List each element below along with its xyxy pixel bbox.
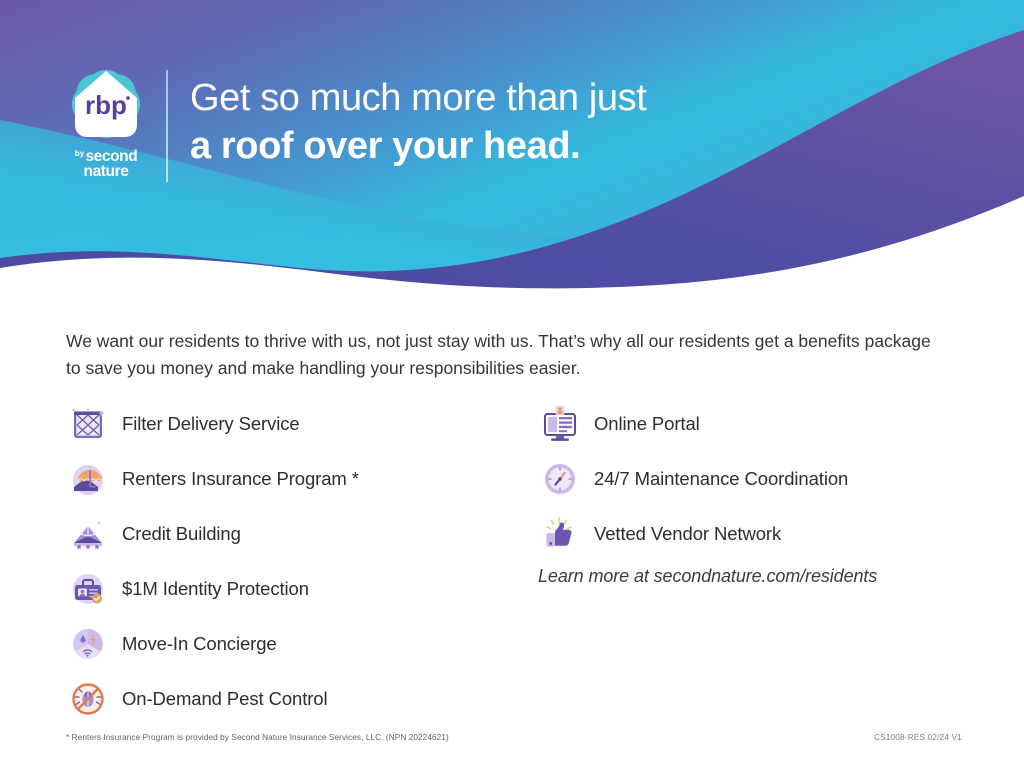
- no-pest-icon: [66, 677, 110, 721]
- id-badge-shield-icon: [66, 567, 110, 611]
- air-filter-icon: [66, 402, 110, 446]
- benefits-column-left: Filter Delivery Service Renters Insuranc…: [66, 396, 516, 726]
- logo-nature-text: nature: [84, 163, 129, 180]
- benefit-label: Vetted Vendor Network: [594, 523, 781, 545]
- benefit-label: $1M Identity Protection: [122, 578, 309, 600]
- hero-headline: Get so much more than just a roof over y…: [190, 75, 980, 171]
- utilities-wifi-icon: [66, 622, 110, 666]
- thumbs-up-icon: [538, 512, 582, 556]
- benefit-item-credit-building: Credit Building: [66, 506, 516, 561]
- benefit-item-online-portal: Online Portal: [538, 396, 968, 451]
- benefit-item-renters-insurance-program: Renters Insurance Program *: [66, 451, 516, 506]
- benefit-label: 24/7 Maintenance Coordination: [594, 468, 848, 490]
- benefit-item-filter-delivery-service: Filter Delivery Service: [66, 396, 516, 451]
- flyer-page: rbp bysecond nature Get so much more tha…: [0, 0, 1024, 769]
- by-second-nature-lockup: bysecond nature: [60, 150, 152, 179]
- clock-icon: [538, 457, 582, 501]
- umbrella-house-icon: [66, 457, 110, 501]
- logo-by-text: by: [75, 150, 85, 157]
- benefit-label: On-Demand Pest Control: [122, 688, 328, 710]
- benefit-label: Online Portal: [594, 413, 700, 435]
- benefit-item-identity-protection: $1M Identity Protection: [66, 561, 516, 616]
- benefit-item-move-in-concierge: Move-In Concierge: [66, 616, 516, 671]
- rbp-logo-mark: rbp: [64, 62, 148, 146]
- benefit-label: Move-In Concierge: [122, 633, 277, 655]
- benefit-item-maintenance-coordination: 24/7 Maintenance Coordination: [538, 451, 968, 506]
- learn-more-link[interactable]: Learn more at secondnature.com/residents: [538, 566, 877, 587]
- rbp-house-badge-icon: rbp: [64, 62, 148, 146]
- benefit-label: Filter Delivery Service: [122, 413, 300, 435]
- hero-divider: [166, 70, 168, 182]
- benefit-item-pest-control: On-Demand Pest Control: [66, 671, 516, 726]
- headline-line-1: Get so much more than just: [190, 75, 980, 123]
- benefits-column-right: Online Portal 24/7 Maintenance: [538, 396, 968, 561]
- benefit-label: Renters Insurance Program *: [122, 468, 359, 490]
- monitor-portal-icon: [538, 402, 582, 446]
- headline-line-2: a roof over your head.: [190, 123, 980, 171]
- rbp-logo-lockup: rbp bysecond nature: [60, 62, 152, 182]
- benefit-label: Credit Building: [122, 523, 241, 545]
- benefit-item-vetted-vendor-network: Vetted Vendor Network: [538, 506, 968, 561]
- hero-banner: rbp bysecond nature Get so much more tha…: [0, 0, 1024, 300]
- rbp-wordmark-text: rbp: [85, 90, 127, 120]
- credit-stars-icon: [66, 512, 110, 556]
- document-code: CS1008-RES 02/24 V1: [874, 733, 962, 742]
- footnote-disclaimer: * Renters Insurance Program is provided …: [66, 733, 449, 742]
- intro-paragraph: We want our residents to thrive with us,…: [66, 328, 946, 381]
